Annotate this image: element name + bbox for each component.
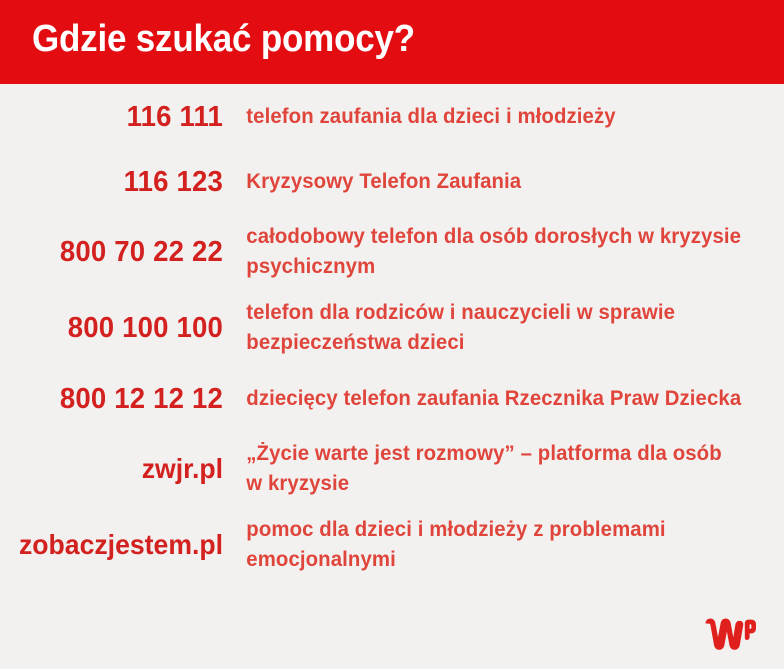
table-row: 800 70 22 22 całodobowy telefon dla osób…	[0, 214, 784, 290]
helpline-table: 116 111 telefon zaufania dla dzieci i mł…	[0, 84, 784, 584]
table-row: 800 12 12 12 dziecięcy telefon zaufania …	[0, 366, 784, 431]
description-line: telefon zaufania dla dzieci i młodzieży	[246, 102, 767, 132]
description-line: dziecięcy telefon zaufania Rzecznika Pra…	[246, 384, 767, 414]
description-line: psychicznym	[246, 252, 767, 282]
description-line: pomoc dla dzieci i młodzieży z problemam…	[246, 515, 767, 545]
page-title: Gdzie szukać pomocy?	[32, 16, 415, 62]
helpline-number: 116 111	[15, 100, 223, 134]
helpline-number: zwjr.pl	[15, 452, 223, 486]
helpline-number: 800 100 100	[15, 311, 223, 345]
helpline-description: dziecięcy telefon zaufania Rzecznika Pra…	[223, 384, 767, 414]
helpline-number: 116 123	[15, 165, 223, 199]
helpline-description: Kryzysowy Telefon Zaufania	[223, 167, 767, 197]
helpline-number: zobaczjestem.pl	[15, 528, 223, 562]
description-line: całodobowy telefon dla osób dorosłych w …	[246, 222, 767, 252]
helpline-description: całodobowy telefon dla osób dorosłych w …	[223, 222, 767, 282]
table-row: zobaczjestem.pl pomoc dla dzieci i młodz…	[0, 507, 784, 583]
description-line: emocjonalnymi	[246, 545, 767, 575]
helpline-number: 800 70 22 22	[15, 235, 223, 269]
wp-logo-icon	[704, 617, 756, 651]
helpline-description: pomoc dla dzieci i młodzieży z problemam…	[223, 515, 767, 575]
table-row: zwjr.pl „Życie warte jest rozmowy” – pla…	[0, 431, 784, 507]
helpline-number: 800 12 12 12	[15, 382, 223, 416]
description-line: w kryzysie	[246, 469, 767, 499]
helpline-description: „Życie warte jest rozmowy” – platforma d…	[223, 439, 767, 499]
table-row: 800 100 100 telefon dla rodziców i naucz…	[0, 290, 784, 366]
description-line: „Życie warte jest rozmowy” – platforma d…	[246, 439, 767, 469]
helpline-description: telefon zaufania dla dzieci i młodzieży	[223, 102, 767, 132]
description-line: Kryzysowy Telefon Zaufania	[246, 167, 767, 197]
description-line: telefon dla rodziców i nauczycieli w spr…	[246, 298, 767, 328]
helpline-description: telefon dla rodziców i nauczycieli w spr…	[223, 298, 767, 358]
infographic-card: Gdzie szukać pomocy? 116 111 telefon zau…	[0, 0, 784, 669]
table-row: 116 111 telefon zaufania dla dzieci i mł…	[0, 84, 784, 149]
header-bar: Gdzie szukać pomocy?	[0, 0, 784, 84]
description-line: bezpieczeństwa dzieci	[246, 328, 767, 358]
table-row: 116 123 Kryzysowy Telefon Zaufania	[0, 149, 784, 214]
